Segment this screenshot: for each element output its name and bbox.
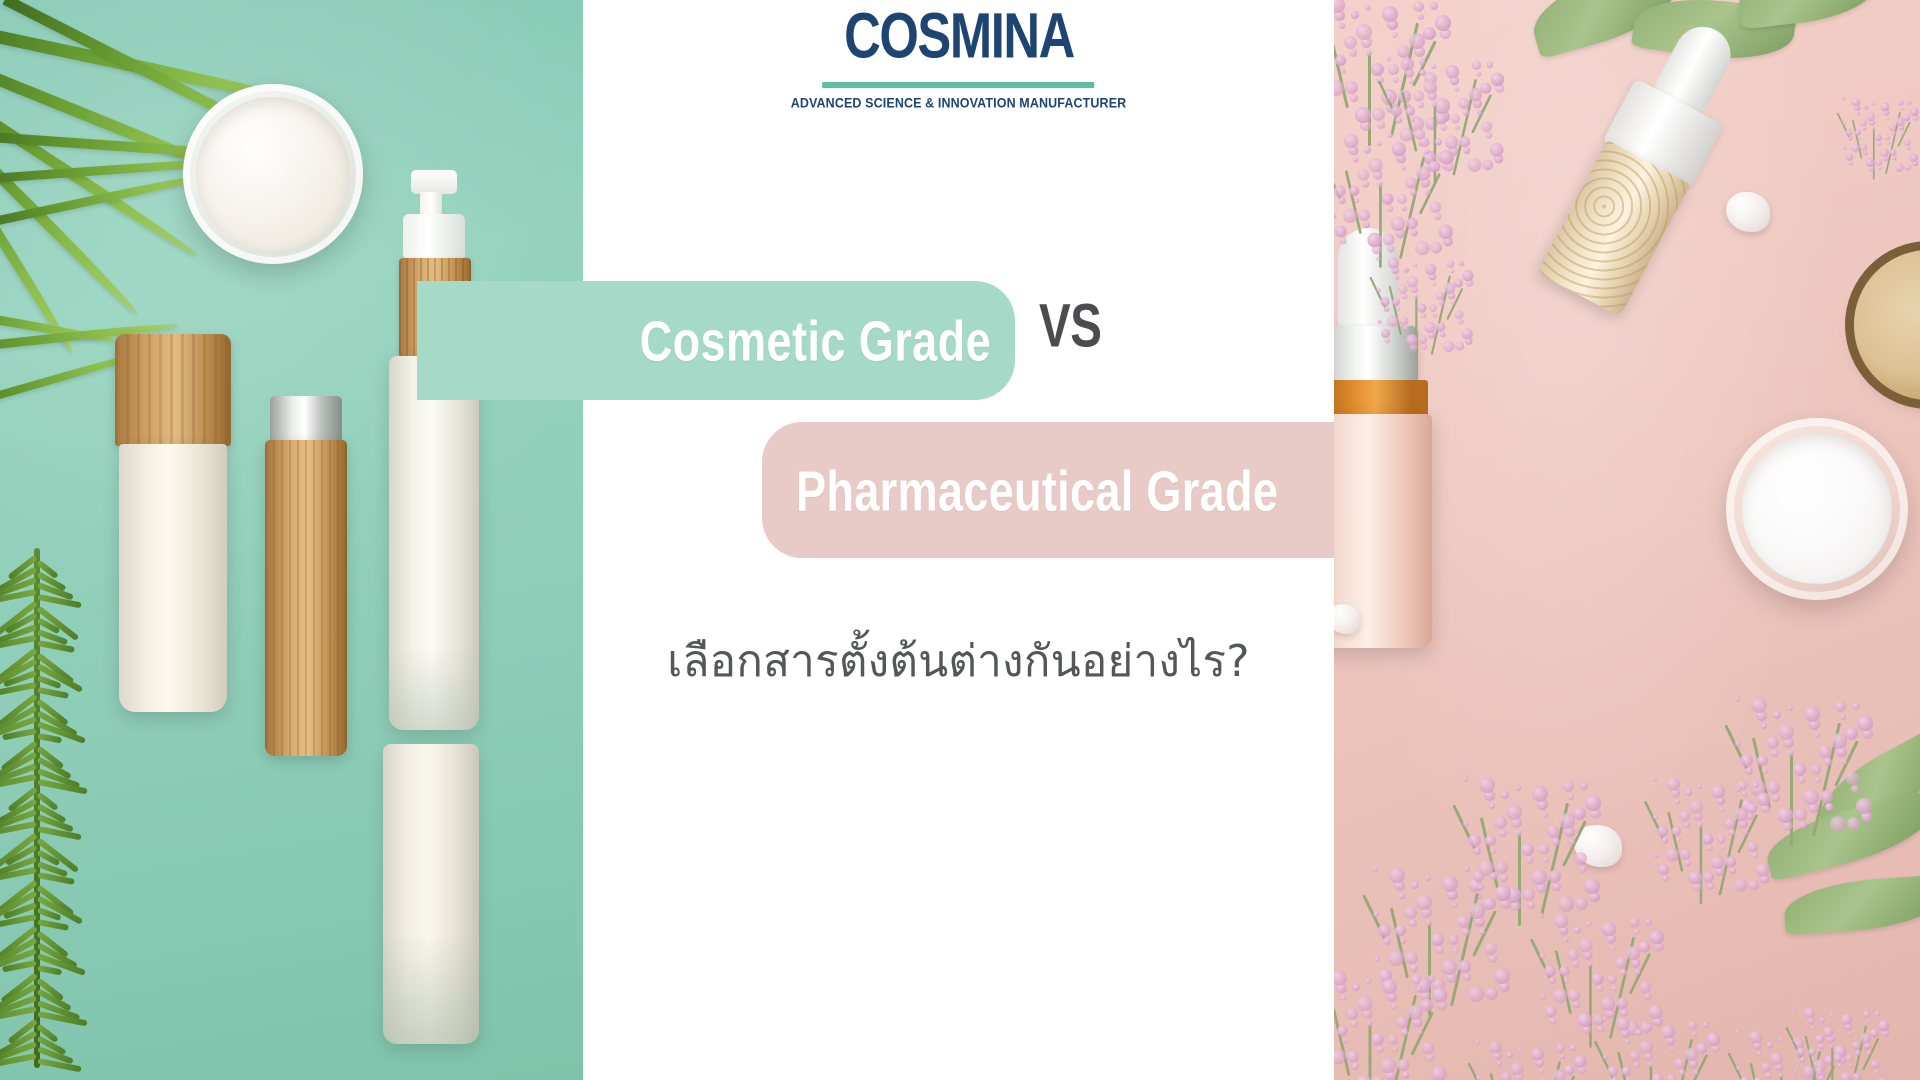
slim-wooden-bottle <box>265 396 347 756</box>
flower-floret <box>1670 1047 1675 1052</box>
flower-floret <box>1612 986 1617 991</box>
flower-floret <box>1459 136 1470 147</box>
flower-floret <box>1454 278 1463 287</box>
flower-floret <box>1406 107 1415 116</box>
flower-floret <box>1511 1062 1523 1074</box>
flower-floret <box>1662 875 1669 882</box>
flower-floret <box>1484 942 1497 955</box>
flower-floret <box>1721 845 1726 850</box>
flower-floret <box>1386 56 1391 61</box>
flower-floret <box>1462 270 1473 281</box>
flower-floret <box>1875 159 1882 166</box>
flower-floret <box>1366 978 1372 984</box>
statice-flower-cluster <box>1595 1011 1723 1080</box>
flower-floret <box>1501 1072 1512 1080</box>
flower-floret <box>1388 1034 1398 1044</box>
flower-floret <box>1480 83 1491 94</box>
flower-floret <box>1852 98 1861 107</box>
flower-floret <box>1584 878 1600 894</box>
flower-floret <box>1898 100 1904 106</box>
flower-floret <box>1569 839 1575 845</box>
flower-floret <box>1740 1076 1751 1080</box>
flower-floret <box>1489 955 1497 963</box>
flower-floret <box>1425 264 1436 275</box>
flower-floret <box>1895 163 1904 172</box>
flower-floret <box>1409 919 1417 927</box>
flower-floret <box>1544 965 1556 977</box>
flower-floret <box>1904 164 1911 171</box>
flower-floret <box>1867 1051 1871 1055</box>
versus-label: VS <box>1039 291 1101 362</box>
flower-floret <box>1666 848 1679 861</box>
flower-floret <box>1819 1075 1825 1080</box>
flower-floret <box>1485 835 1496 846</box>
thai-subtitle: เลือกสารตั้งต้นต่างกันอย่างไร? <box>583 626 1334 696</box>
flower-floret <box>1479 777 1495 793</box>
flower-floret <box>1403 267 1409 273</box>
flower-floret <box>1436 113 1447 124</box>
flower-floret <box>1697 784 1702 789</box>
flower-floret <box>1486 132 1493 139</box>
flower-floret <box>1397 194 1407 204</box>
flower-floret <box>1749 1031 1761 1043</box>
flower-floret <box>1684 860 1691 867</box>
flower-floret <box>1875 134 1882 141</box>
flower-floret <box>1863 1010 1871 1018</box>
flower-floret <box>1820 790 1833 803</box>
flower-floret <box>1411 974 1421 984</box>
flower-floret <box>1399 285 1408 294</box>
flower-floret <box>1892 156 1897 161</box>
flower-floret <box>1734 878 1747 891</box>
open-cream-jar <box>183 84 363 264</box>
flower-floret <box>1431 933 1444 946</box>
flower-floret <box>1761 723 1767 729</box>
flower-floret <box>1406 218 1418 230</box>
flower-floret <box>1804 706 1820 722</box>
flower-floret <box>1903 114 1910 121</box>
flower-floret <box>1592 973 1604 985</box>
flower-floret <box>1384 306 1390 312</box>
flower-floret <box>1796 1047 1805 1056</box>
flower-floret <box>1339 197 1347 205</box>
flower-floret <box>1402 206 1407 211</box>
flower-floret <box>1489 1041 1501 1053</box>
flower-floret <box>1858 137 1861 140</box>
flower-floret <box>1752 781 1759 788</box>
flower-floret <box>1837 1063 1843 1069</box>
flower-floret <box>1702 833 1713 844</box>
brand-logo: COSMINA ADVANCED SCIENCE & INNOVATION MA… <box>791 14 1127 109</box>
flower-floret <box>1430 2 1438 10</box>
flower-floret <box>1531 1048 1543 1060</box>
flower-floret <box>1825 803 1833 811</box>
flower-floret <box>1340 237 1348 245</box>
flower-floret <box>1402 1071 1410 1079</box>
flower-floret <box>1578 938 1592 952</box>
flower-floret <box>1845 1054 1853 1062</box>
flower-floret <box>1501 791 1509 799</box>
flower-floret <box>1866 1019 1870 1023</box>
flower-floret <box>1366 50 1372 56</box>
flower-floret <box>1568 949 1580 961</box>
statice-flower-cluster <box>1371 253 1476 358</box>
flower-floret <box>1866 158 1875 167</box>
flower-floret <box>1506 804 1522 820</box>
flower-floret <box>1455 341 1464 350</box>
flower-floret <box>1451 301 1455 305</box>
flower-floret <box>1420 137 1430 147</box>
flower-floret <box>1425 190 1430 195</box>
flower-floret <box>1479 929 1485 935</box>
flower-floret <box>1376 257 1380 261</box>
flower-floret <box>1368 158 1382 172</box>
flower-floret <box>1383 234 1395 246</box>
flower-floret <box>1742 792 1747 797</box>
flower-floret <box>1717 834 1726 843</box>
flower-floret <box>1539 1069 1544 1074</box>
flower-floret <box>1743 830 1748 835</box>
flower-floret <box>1539 913 1544 918</box>
flower-floret <box>1815 1035 1824 1044</box>
flower-floret <box>1495 885 1511 901</box>
flower-floret <box>1358 169 1370 181</box>
flower-floret <box>1870 1028 1879 1037</box>
flower-floret <box>1688 1021 1697 1030</box>
flower-floret <box>1334 214 1336 219</box>
flower-floret <box>1387 95 1392 100</box>
flower-floret <box>1334 1067 1335 1080</box>
flower-floret <box>1408 1005 1423 1020</box>
flower-floret <box>1729 867 1736 874</box>
flower-floret <box>1358 209 1370 221</box>
flower-floret <box>1392 32 1398 38</box>
flower-floret <box>1706 844 1713 851</box>
flower-floret <box>1439 150 1453 164</box>
flower-floret <box>1585 795 1601 811</box>
flower-floret <box>1771 1052 1783 1064</box>
flower-floret <box>1392 1046 1398 1052</box>
flower-floret <box>1703 872 1714 883</box>
flower-floret <box>1812 1057 1816 1061</box>
flower-floret <box>1616 998 1628 1010</box>
flower-floret <box>1397 1059 1410 1072</box>
bottle-body <box>389 356 479 730</box>
flower-floret <box>1451 114 1460 123</box>
flower-floret <box>1396 307 1400 311</box>
flower-floret <box>1374 956 1380 962</box>
flower-floret <box>1343 209 1357 223</box>
flower-floret <box>1779 1073 1784 1078</box>
flower-floret <box>1794 808 1807 821</box>
flower-floret <box>1580 782 1588 790</box>
flower-floret <box>1521 843 1534 856</box>
flower-floret <box>1339 23 1345 29</box>
flower-floret <box>1815 1066 1824 1075</box>
flower-floret <box>1877 141 1882 146</box>
flower-floret <box>1482 159 1493 170</box>
flower-floret <box>1378 924 1391 937</box>
flower-floret <box>1383 937 1391 945</box>
flower-floret <box>1634 1061 1641 1068</box>
flower-floret <box>1548 870 1561 883</box>
flower-floret <box>1349 49 1357 57</box>
bottle-body <box>119 444 227 712</box>
flower-floret <box>1840 714 1846 720</box>
flower-floret <box>1855 130 1861 136</box>
flower-floret <box>1645 918 1653 926</box>
flower-floret <box>1351 1063 1359 1071</box>
flower-floret <box>1843 122 1846 125</box>
flower-floret <box>1689 800 1702 813</box>
flower-floret <box>1849 161 1854 166</box>
flower-floret <box>1395 925 1406 936</box>
flower-floret <box>1407 276 1418 287</box>
flower-floret <box>1403 325 1409 331</box>
flower-floret <box>1481 121 1492 132</box>
flower-floret <box>1856 798 1872 814</box>
flower-floret <box>1771 749 1779 757</box>
flower-floret <box>1884 134 1890 140</box>
flower-floret <box>1602 1016 1607 1021</box>
flower-floret <box>1587 962 1592 967</box>
flower-floret <box>1617 1017 1630 1030</box>
cream-bottle-wooden-cap <box>115 334 231 714</box>
flower-floret <box>1772 794 1780 802</box>
flower-floret <box>1380 297 1389 306</box>
flower-floret <box>1371 1033 1384 1046</box>
sage-leaf-icon <box>1735 0 1880 29</box>
flower-floret <box>1799 821 1807 829</box>
flower-floret <box>1440 332 1446 338</box>
sage-leaf-icon <box>1782 874 1920 935</box>
flower-floret <box>1841 1014 1852 1025</box>
flower-floret <box>1860 144 1867 151</box>
flower-floret <box>1425 875 1431 881</box>
flower-floret <box>1399 893 1405 899</box>
flower-floret <box>1334 173 1335 178</box>
flower-floret <box>1436 323 1445 332</box>
flower-floret <box>1568 989 1580 1001</box>
flower-floret <box>1574 926 1582 934</box>
flower-floret <box>1851 143 1860 152</box>
flower-floret <box>1431 1066 1446 1080</box>
flower-floret <box>1835 701 1846 712</box>
flower-floret <box>1842 97 1845 100</box>
flower-floret <box>1851 785 1859 793</box>
flower-floret <box>1736 1066 1741 1071</box>
flower-floret <box>1515 785 1521 791</box>
flower-floret <box>1409 79 1414 84</box>
pump-head <box>411 170 457 194</box>
flower-floret <box>1413 263 1417 267</box>
flower-floret <box>1376 1045 1384 1053</box>
flower-floret <box>1778 1037 1783 1042</box>
flower-floret <box>1341 995 1347 1001</box>
flower-floret <box>1549 977 1557 985</box>
flower-floret <box>1568 794 1574 800</box>
frosted-glass-bottle <box>383 744 479 1044</box>
flower-floret <box>1462 776 1468 782</box>
flower-floret <box>1545 1006 1557 1018</box>
flower-floret <box>1347 1050 1360 1063</box>
flower-floret <box>1792 1007 1796 1011</box>
flower-floret <box>1871 1060 1880 1069</box>
flower-floret <box>1702 1021 1709 1028</box>
flower-floret <box>1634 929 1639 934</box>
rosemary-sprig-icon <box>0 548 132 1068</box>
flower-floret <box>1356 24 1372 40</box>
flower-floret <box>1811 1026 1815 1030</box>
flower-floret <box>1499 829 1507 837</box>
flower-floret <box>1748 879 1759 890</box>
flower-floret <box>1424 322 1435 333</box>
flower-floret <box>1477 110 1482 115</box>
rosemary-needle <box>37 687 69 699</box>
flower-floret <box>1563 781 1574 792</box>
flower-floret <box>1459 261 1465 267</box>
flower-floret <box>1516 830 1522 836</box>
flower-floret <box>1630 917 1640 927</box>
flower-floret <box>1559 813 1575 829</box>
logo-divider-rule <box>822 82 1094 88</box>
flower-stem <box>1345 170 1362 234</box>
flower-floret <box>1334 80 1344 96</box>
flower-floret <box>1385 338 1391 344</box>
flower-floret <box>1662 1025 1675 1038</box>
flower-floret <box>1365 5 1371 11</box>
flower-floret <box>1353 157 1358 162</box>
flower-floret <box>1644 993 1652 1001</box>
flower-floret <box>1881 103 1890 112</box>
flower-floret <box>1887 142 1890 145</box>
flower-floret <box>1354 198 1359 203</box>
flower-floret <box>1458 960 1471 973</box>
flower-floret <box>1531 869 1547 885</box>
flower-floret <box>1391 217 1405 231</box>
flower-floret <box>1900 107 1903 110</box>
flower-floret <box>1541 994 1546 999</box>
flower-floret <box>1843 147 1846 150</box>
flower-floret <box>1810 764 1821 775</box>
flower-floret <box>1452 902 1458 908</box>
flower-floret <box>1334 970 1346 985</box>
flower-floret <box>1639 941 1651 953</box>
flower-floret <box>1845 129 1852 136</box>
flower-floret <box>1860 1033 1871 1044</box>
flower-floret <box>1848 1032 1852 1036</box>
flower-floret <box>1473 847 1481 855</box>
flower-floret <box>1421 999 1434 1012</box>
flower-floret <box>1553 1069 1565 1080</box>
flower-floret <box>1483 897 1496 910</box>
flower-floret <box>1367 233 1381 247</box>
flower-floret <box>1846 154 1853 161</box>
quartz-pebble <box>1334 604 1360 634</box>
flower-floret <box>1427 975 1435 983</box>
flower-floret <box>1626 946 1640 960</box>
flower-floret <box>1391 106 1402 117</box>
flower-floret <box>1573 1001 1581 1009</box>
flower-floret <box>1629 1050 1640 1061</box>
flower-floret <box>1432 282 1436 286</box>
flower-stem <box>1831 1046 1833 1080</box>
flower-floret <box>1793 763 1806 776</box>
silver-cap <box>270 396 342 444</box>
right-photo-panel <box>1334 0 1920 1080</box>
flower-floret <box>1542 812 1548 818</box>
flower-floret <box>1468 158 1481 171</box>
flower-floret <box>1814 732 1820 738</box>
flower-floret <box>1841 759 1847 765</box>
flower-floret <box>1757 755 1768 766</box>
flower-floret <box>1401 165 1406 170</box>
flower-floret <box>1572 961 1580 969</box>
flower-floret <box>1345 81 1358 94</box>
flower-floret <box>1334 185 1346 197</box>
pump-collar <box>403 214 465 260</box>
flower-floret <box>1635 1029 1642 1036</box>
flower-floret <box>1603 1055 1608 1060</box>
flower-floret <box>1469 903 1485 919</box>
flower-floret <box>1675 799 1680 804</box>
statice-flower-cluster <box>1469 1035 1589 1080</box>
flower-floret <box>1351 11 1359 19</box>
flower-floret <box>1803 789 1819 805</box>
flower-floret <box>1611 945 1616 950</box>
flower-floret <box>1845 727 1858 740</box>
flower-floret <box>1554 914 1568 928</box>
brand-name: COSMINA <box>801 4 1116 68</box>
flower-floret <box>1622 1067 1631 1076</box>
flower-floret <box>1349 186 1359 196</box>
flower-floret <box>1431 64 1436 69</box>
flower-floret <box>1526 856 1534 864</box>
flower-floret <box>1414 295 1418 299</box>
flower-floret <box>1734 696 1740 702</box>
flower-floret <box>1450 269 1454 273</box>
flower-floret <box>1476 72 1481 77</box>
flower-floret <box>1442 876 1458 892</box>
flower-floret <box>1872 127 1875 130</box>
flower-floret <box>1909 153 1918 162</box>
flower-floret <box>1652 1073 1663 1080</box>
flower-floret <box>1532 786 1548 802</box>
flower-floret <box>1472 61 1481 70</box>
flower-floret <box>1376 141 1381 146</box>
flower-floret <box>1518 1047 1523 1052</box>
flower-floret <box>1773 711 1781 719</box>
flower-floret <box>1679 810 1690 821</box>
flower-floret <box>1847 817 1860 830</box>
flower-floret <box>1757 1051 1762 1056</box>
flower-floret <box>1490 848 1496 854</box>
flower-stem <box>1555 950 1572 1014</box>
flower-floret <box>1377 182 1382 187</box>
flower-floret <box>1427 1054 1435 1062</box>
flower-floret <box>1657 826 1668 837</box>
flower-floret <box>1684 821 1691 828</box>
flower-floret <box>1372 866 1378 872</box>
flower-floret <box>1395 276 1399 280</box>
flower-floret <box>1667 1074 1676 1080</box>
flower-floret <box>1857 112 1860 115</box>
flower-floret <box>1735 741 1741 747</box>
flower-floret <box>1692 1032 1697 1037</box>
flower-floret <box>1392 142 1406 156</box>
flower-floret <box>1901 132 1904 135</box>
flower-floret <box>1563 937 1568 942</box>
